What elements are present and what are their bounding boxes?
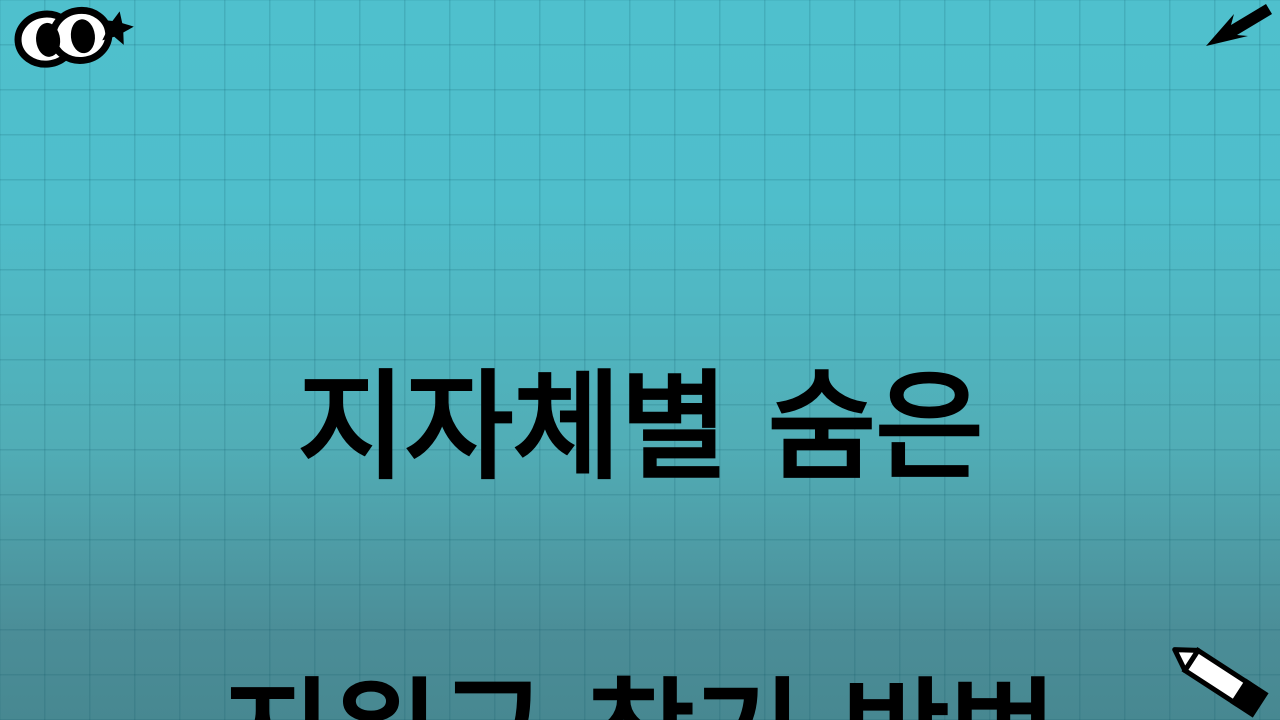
googly-eyes-icon [6,2,141,72]
thumbnail-canvas: 지자체별 숨은 지원금 찾기 방법 [0,0,1280,720]
arrow-down-left-icon [1204,2,1274,56]
page-title-line-2: 지원금 찾기 방법 [0,658,1280,720]
page-title: 지자체별 숨은 지원금 찾기 방법 [0,196,1280,720]
page-title-line-1: 지자체별 숨은 [0,350,1280,504]
